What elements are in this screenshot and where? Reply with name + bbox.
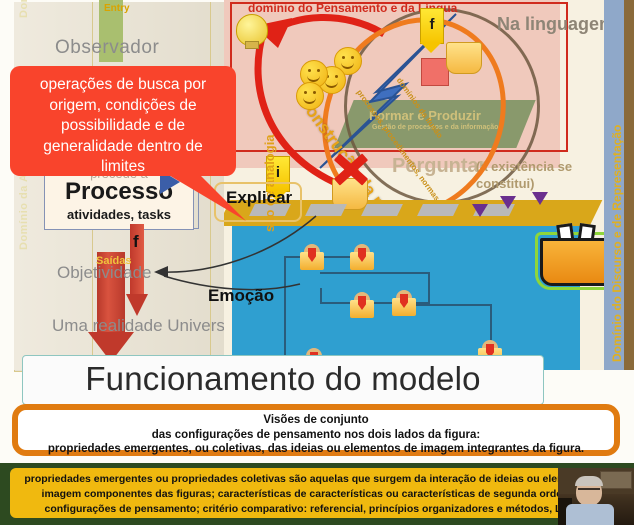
smiley-icon xyxy=(296,82,324,110)
slide-screenshot: Domínio do Pensamento Domínio da Ação En… xyxy=(0,0,634,525)
f-arrow-label: f xyxy=(133,232,139,252)
node-icon xyxy=(350,244,374,270)
uma-realidade-label: Uma realidade Universo xyxy=(52,316,234,336)
yellow-line-2: imagem componentes das figuras; caracter… xyxy=(10,487,624,502)
left-vertical-label-top: Domínio do Pensamento xyxy=(18,0,30,18)
yellow-line-1: propriedades emergentes ou propriedades … xyxy=(10,472,624,487)
callout-line-5: limites xyxy=(101,158,145,175)
shelf-stripe xyxy=(361,204,403,216)
yellow-line-3: configurações de pensamento; critério co… xyxy=(10,502,624,517)
emocao-label: Emoção xyxy=(208,286,274,306)
callout-line-4: generalidade dentro de xyxy=(43,138,202,155)
entry-label: Entry xyxy=(104,4,118,14)
presenter-video-thumbnail[interactable] xyxy=(558,468,634,525)
bottom-strip: propriedades emergentes ou propriedades … xyxy=(0,463,634,525)
red-cube-icon xyxy=(421,58,449,86)
node-icon xyxy=(392,290,416,316)
callout-line-3: possibilidade e de xyxy=(61,117,185,134)
objetividade-label: Objetividade xyxy=(57,263,152,283)
orange-line-2: das configurações de pensamento nos dois… xyxy=(18,428,614,443)
network-line xyxy=(428,272,430,302)
yellow-definition-box: propriedades emergentes ou propriedades … xyxy=(10,468,624,518)
node-icon xyxy=(350,292,374,318)
network-line xyxy=(320,288,322,304)
f-card-tip-icon xyxy=(420,42,442,53)
orange-line-3: propriedades emergentes, ou coletivas, d… xyxy=(18,442,614,457)
shelf-stripe xyxy=(417,204,459,216)
purple-triangle-icon xyxy=(532,192,548,205)
presentation-slide: Domínio do Pensamento Domínio da Ação En… xyxy=(0,0,634,463)
right-vertical-label: Domínio do Discurso e de Representação xyxy=(610,112,624,362)
observador-label: Observador xyxy=(55,37,159,59)
lightbulb-base-icon xyxy=(245,41,259,49)
video-window xyxy=(600,471,632,489)
callout-line-2: origem, condições de xyxy=(49,97,196,114)
presenter-glasses-icon xyxy=(578,488,600,495)
orange-summary-box: Visões de conjunto das configurações de … xyxy=(12,404,620,456)
purple-triangle-icon xyxy=(472,204,488,217)
presenter-hair xyxy=(575,476,603,486)
network-line xyxy=(320,272,430,274)
right-brown-band xyxy=(624,0,634,370)
presenter-body xyxy=(566,504,614,525)
f-card-icon: f xyxy=(420,8,444,44)
basket-small-icon xyxy=(446,42,482,74)
orange-line-1: Visões de conjunto xyxy=(18,413,614,428)
callout-line-1: operações de busca por xyxy=(40,76,206,93)
page-title: Funcionamento do modelo xyxy=(23,360,543,398)
callout-bubble: operações de busca por origem, condições… xyxy=(10,66,236,176)
purple-triangle-icon xyxy=(500,196,516,209)
title-banner: Funcionamento do modelo xyxy=(22,355,544,405)
